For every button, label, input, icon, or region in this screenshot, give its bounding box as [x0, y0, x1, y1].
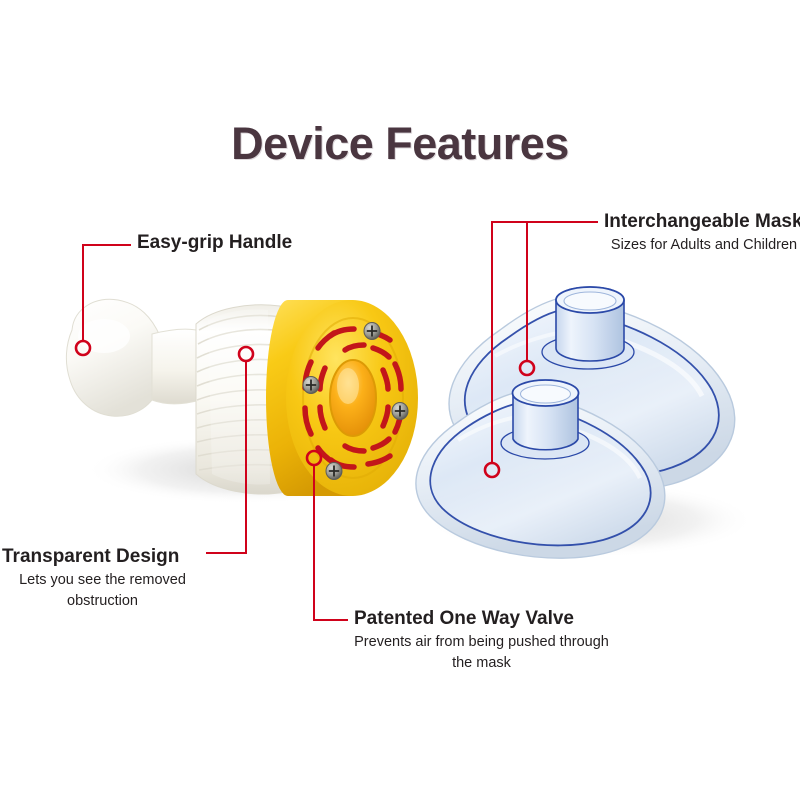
adult-mask-port-bore [564, 292, 616, 310]
easy-grip-handle [66, 299, 164, 416]
callout-title-easy-grip-handle: Easy-grip Handle [137, 232, 292, 254]
callout-title-interchangeable-mask: Interchangeable Mask [604, 211, 800, 233]
callout-subtitle-interchangeable-mask: Sizes for Adults and Children [604, 235, 800, 256]
callout-title-patented-one-way-valve: Patented One Way Valve [354, 608, 574, 630]
callout-title-transparent-design: Transparent Design [2, 546, 179, 568]
handle-highlight [78, 319, 130, 353]
bellows-highlight [208, 309, 270, 484]
infographic-canvas: Device Features [0, 0, 800, 800]
child-mask-port-bore [521, 385, 571, 403]
callout-subtitle-patented-one-way-valve: Prevents air from being pushed through t… [354, 632, 609, 673]
callout-subtitle-transparent-design: Lets you see the removed obstruction [0, 570, 205, 611]
handle-neck [152, 329, 200, 404]
product-illustration [0, 0, 800, 800]
valve-center-highlight [337, 368, 359, 404]
